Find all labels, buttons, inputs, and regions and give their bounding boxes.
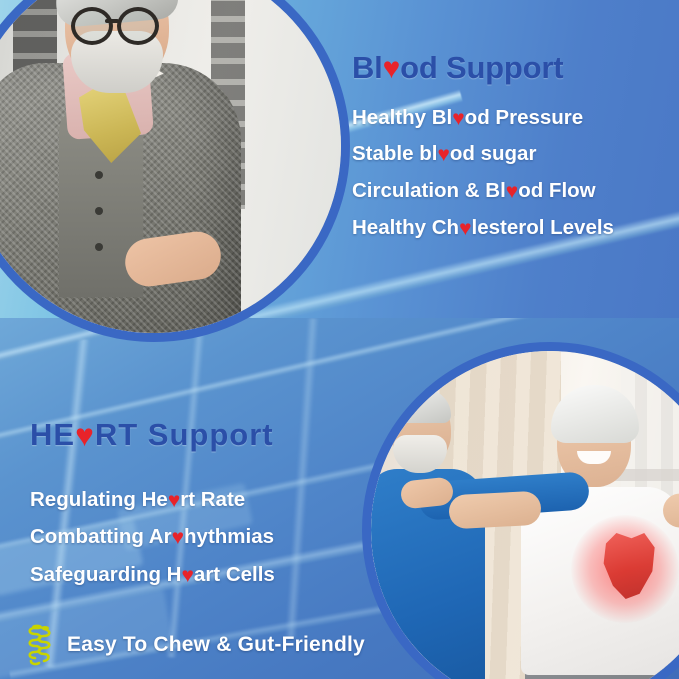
blood-support-heading: Bl♥od Support (352, 52, 670, 85)
list-item: Safeguarding H♥art Cells (30, 565, 380, 586)
list-item-text-post: art Cells (194, 563, 275, 586)
photo-woman-outstretched-arm-left (448, 491, 542, 530)
list-item: Healthy Bl♥od Pressure (352, 108, 670, 129)
heading-text-post: od Support (400, 50, 563, 85)
intestine-icon (24, 624, 58, 666)
heart-support-text-block: HE♥RT Support Regulating He♥rt Rate Comb… (30, 418, 380, 603)
footer-claim: Easy To Chew & Gut-Friendly (24, 624, 365, 666)
list-item: Regulating He♥rt Rate (30, 490, 380, 511)
list-item: Combatting Ar♥hythmias (30, 527, 380, 548)
heart-icon: ♥ (506, 182, 518, 203)
list-item-text-post: rt Rate (180, 488, 245, 511)
product-infographic-poster: Bl♥od Support Healthy Bl♥od Pressure Sta… (0, 0, 679, 679)
list-item-text-pre: Combatting Ar (30, 525, 172, 548)
senior-man-photo (0, 0, 341, 333)
list-item-text-pre: Regulating He (30, 488, 168, 511)
heart-icon: ♥ (383, 53, 400, 84)
list-item: Circulation & Bl♥od Flow (352, 181, 670, 202)
blood-support-benefit-list: Healthy Bl♥od Pressure Stable bl♥od suga… (352, 108, 670, 240)
heart-support-heading: HE♥RT Support (30, 418, 380, 452)
heart-icon: ♥ (459, 219, 471, 240)
list-item-text-post: od sugar (450, 142, 537, 165)
heart-support-benefit-list: Regulating He♥rt Rate Combatting Ar♥hyth… (30, 490, 380, 587)
heart-icon: ♥ (437, 145, 449, 166)
list-item-text-post: od Pressure (465, 106, 584, 129)
senior-couple-photo-circle (362, 342, 679, 679)
footer-label: Easy To Chew & Gut-Friendly (67, 633, 365, 657)
list-item-text-post: hythmias (184, 525, 274, 548)
heading-text-pre: HE (30, 417, 75, 452)
list-item-text-pre: Healthy Bl (352, 106, 452, 129)
heading-text-pre: Bl (352, 50, 383, 85)
senior-man-photo-circle (0, 0, 350, 342)
list-item: Healthy Ch♥lesterol Levels (352, 218, 670, 239)
heart-icon: ♥ (182, 566, 194, 587)
photo-man-vest-button (95, 243, 103, 251)
list-item-text-pre: Circulation & Bl (352, 179, 506, 202)
photo-man-eyeglasses-bridge (105, 19, 119, 23)
list-item-text-pre: Safeguarding H (30, 563, 182, 586)
photo-man-eyeglasses-left-lens (71, 7, 113, 45)
photo-man-hair (387, 389, 451, 423)
list-item-text-post: lesterol Levels (472, 216, 614, 239)
heart-icon: ♥ (452, 109, 464, 130)
list-item-text-pre: Stable bl (352, 142, 437, 165)
list-item-text-post: od Flow (518, 179, 595, 202)
blood-support-text-block: Bl♥od Support Healthy Bl♥od Pressure Sta… (352, 52, 670, 255)
list-item-text-pre: Healthy Ch (352, 216, 459, 239)
list-item: Stable bl♥od sugar (352, 144, 670, 165)
heart-icon: ♥ (168, 491, 180, 512)
senior-couple-photo (371, 351, 679, 679)
heart-icon: ♥ (75, 419, 95, 452)
photo-man-vest-button (95, 207, 103, 215)
photo-man-vest-button (95, 171, 103, 179)
photo-man-eyeglasses-right-lens (117, 7, 159, 45)
heading-text-post: RT Support (95, 417, 274, 452)
heart-icon: ♥ (172, 528, 184, 549)
